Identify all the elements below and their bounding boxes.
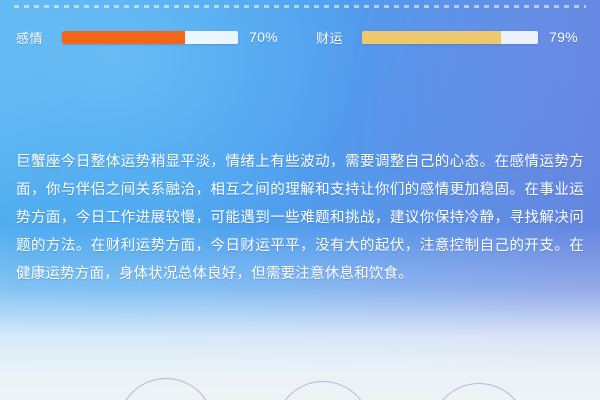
stat-track-wealth (362, 31, 538, 44)
decorative-circle (118, 378, 214, 400)
stat-row-wealth: 财运 79% (300, 22, 600, 52)
stat-row-love: 感情 70% (0, 22, 300, 52)
bottom-decorative-circles (0, 340, 600, 400)
fortune-stats-grid: 感情 70% 财运 79% 综合 80% 健康 88% (0, 22, 600, 52)
stat-fill-love (62, 31, 185, 44)
stat-percent-wealth: 79% (549, 29, 578, 45)
decorative-circle (275, 381, 371, 400)
stat-fill-wealth (362, 31, 501, 44)
decorative-circle (431, 383, 527, 400)
stat-track-love (62, 31, 238, 44)
stat-label-wealth: 财运 (316, 28, 362, 47)
stat-percent-love: 70% (249, 29, 278, 45)
top-dashed-divider (14, 5, 586, 8)
fortune-description-text: 巨蟹座今日整体运势稍显平淡，情绪上有些波动，需要调整自己的心态。在感情运势方面，… (16, 148, 584, 288)
stat-label-love: 感情 (16, 28, 62, 47)
horoscope-fortune-card: 感情 70% 财运 79% 综合 80% 健康 88% (0, 0, 600, 400)
